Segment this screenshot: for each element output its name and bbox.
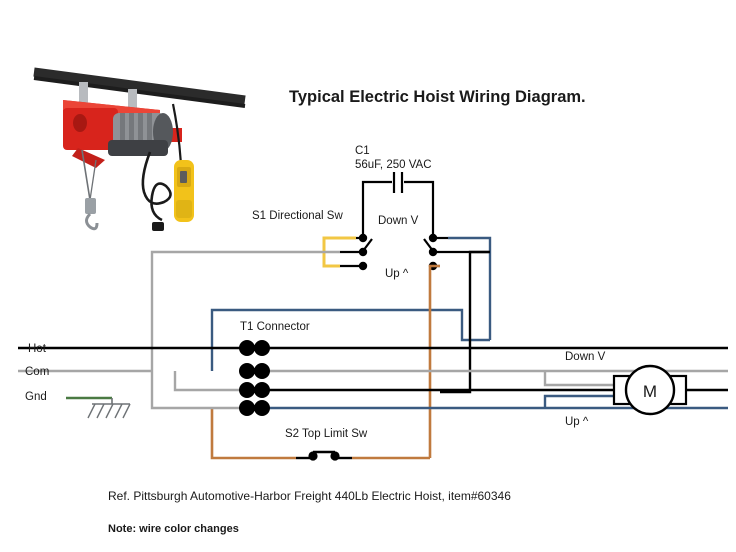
reference-text: Ref. Pittsburgh Automotive-Harbor Freigh…: [108, 489, 511, 503]
orange-wire-s2-left: [212, 408, 296, 458]
s1-right-contact-1: [429, 234, 437, 242]
terminal-gnd-label: Gnd: [25, 391, 47, 403]
s1-left-contact-3: [359, 262, 367, 270]
page-title: Typical Electric Hoist Wiring Diagram.: [289, 88, 586, 106]
t1-row2-dot-b: [254, 363, 270, 379]
s2-contact-right: [330, 451, 339, 460]
capacitor-c1-symbol: [363, 172, 433, 238]
note-text: Note: wire color changes: [108, 523, 239, 535]
s2-top-limit-switch[interactable]: [296, 451, 352, 460]
motor-symbol-letter: M: [643, 382, 657, 401]
motor-down-label: Down V: [565, 351, 606, 363]
s2-contact-left: [308, 451, 317, 460]
diagram-canvas: Typical Electric Hoist Wiring Diagram. C…: [0, 0, 736, 552]
motor-lead-down: [545, 371, 618, 385]
t1-connector-label: T1 Connector: [240, 321, 310, 333]
motor-lead-up: [545, 396, 618, 408]
s1-directional-switch[interactable]: [340, 234, 490, 270]
terminal-com-label: Com: [25, 366, 49, 378]
s1-left-contact-2: [359, 248, 367, 256]
t1-row3-feed: [175, 371, 240, 390]
t1-row4-dot-a: [239, 400, 255, 416]
capacitor-spec-label: 56uF, 250 VAC: [355, 159, 432, 171]
t1-row2-dot-a: [239, 363, 255, 379]
t1-row3-dot-b: [254, 382, 270, 398]
electric-hoist-product-photo: [34, 72, 245, 231]
s1-down-label: Down V: [378, 215, 419, 227]
t1-row1-dot-a: [239, 340, 255, 356]
capacitor-name-label: C1: [355, 145, 370, 157]
s1-up-label: Up ^: [385, 268, 409, 280]
ground-symbol: [66, 398, 130, 418]
orange-wire-down: [430, 266, 440, 458]
t1-connector-terminals[interactable]: [239, 340, 270, 416]
t1-row3-dot-a: [239, 382, 255, 398]
s2-switch-label: S2 Top Limit Sw: [285, 428, 368, 440]
t1-row4-dot-b: [254, 400, 270, 416]
motor-up-label: Up ^: [565, 416, 589, 428]
t1-row1-dot-b: [254, 340, 270, 356]
s1-left-contact-1: [359, 234, 367, 242]
s1-right-contact-2: [429, 248, 437, 256]
s1-switch-label: S1 Directional Sw: [252, 210, 343, 222]
terminal-hot-label: Hot: [28, 343, 47, 355]
wiring-diagram-svg: Typical Electric Hoist Wiring Diagram. C…: [0, 0, 736, 552]
blue-wire-to-t1: [212, 310, 490, 371]
